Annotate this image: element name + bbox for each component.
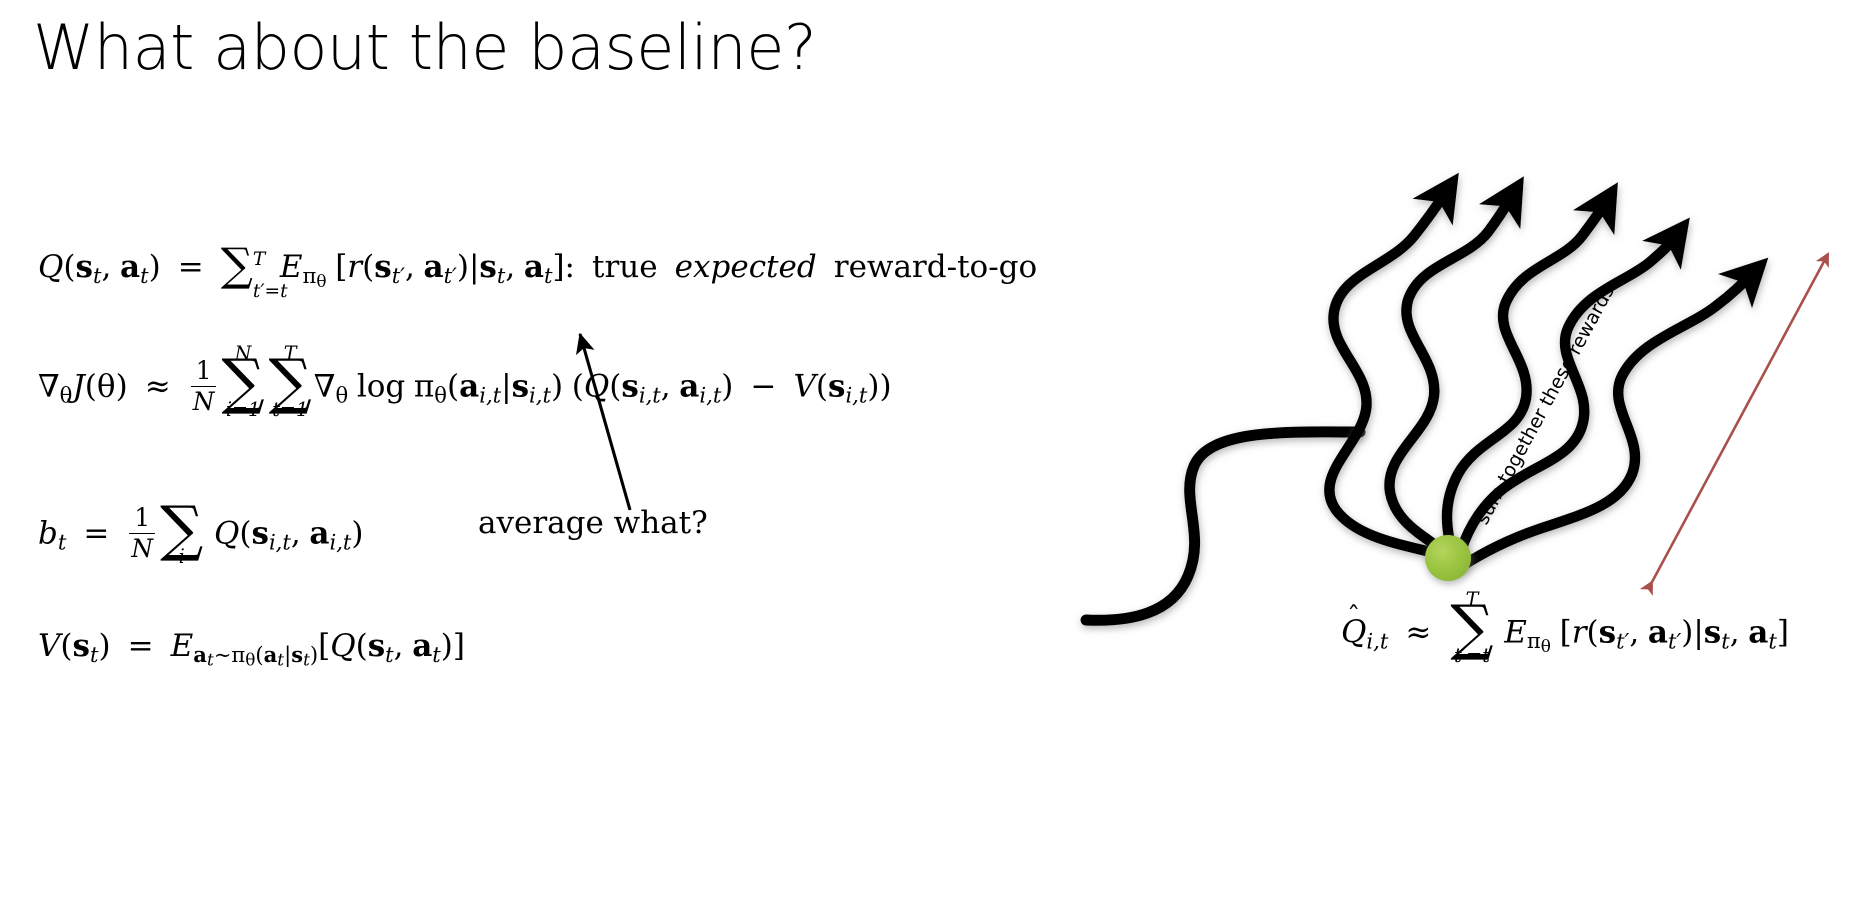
state-dot [1425, 535, 1471, 581]
reward-span-arrow [1652, 254, 1828, 582]
equation-policy-gradient: ∇θJ(θ)≈1NN∑i=1T∑t=1∇θlogπθ(ai,t|si,t)(Q(… [38, 358, 892, 415]
trajectory-fan-diagram [1060, 170, 1850, 770]
pointer-arrow-to-q-term [500, 320, 690, 530]
trajectory-incoming [1086, 432, 1360, 620]
equation-q-hat-estimate: ˆQi,t≈T∑t′=tEπθ[r(st′,at′)|st,at] [1341, 604, 1789, 655]
equation-baseline: bt=1N∑iQ(si,t,ai,t) [38, 505, 364, 562]
equation-value-function: V(st)=Eat∼πθ(at|st)[Q(st,at)] [38, 631, 465, 668]
equation-q-definition: Q(st,at)=∑Tt′=tEπθ[r(st′,at′)|st,at]:tru… [38, 247, 1037, 290]
slide-canvas: What about the baseline? Q(st,at)=∑Tt′=t… [0, 0, 1852, 923]
page-title: What about the baseline? [33, 14, 816, 82]
